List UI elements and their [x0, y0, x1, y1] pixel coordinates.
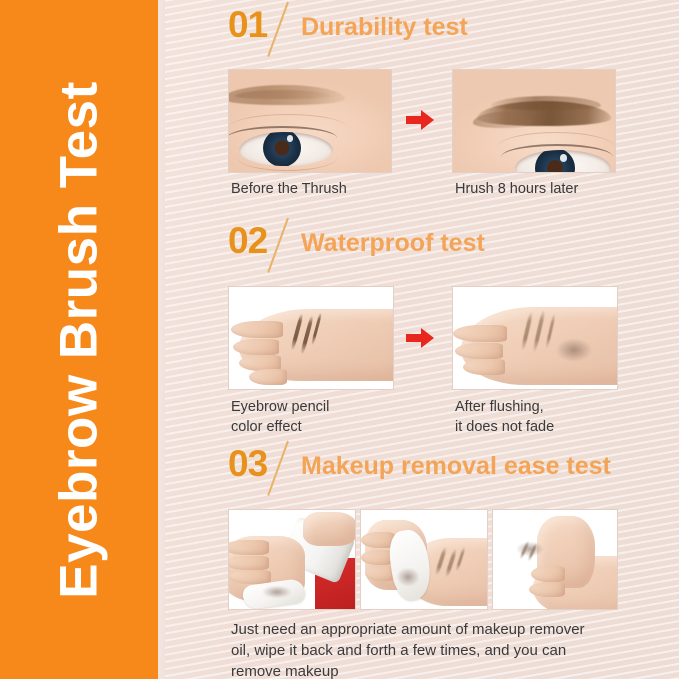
section-durability-test: 01 Durability test [165, 4, 679, 216]
sidebar-divider [158, 0, 165, 679]
section-3-heading: 03 Makeup removal ease test [165, 443, 679, 495]
section-3-number: 03 [228, 445, 267, 482]
slash-divider-icon [267, 218, 289, 273]
wiping-swatches-with-cotton-pad-photo [360, 509, 488, 610]
section-2-title: Waterproof test [301, 231, 485, 256]
section-3-photo-row: Just need an appropriate amount of makeu… [165, 495, 679, 675]
section-2-photo-row: Eyebrow pencil color effect After flushi… [165, 272, 679, 442]
page-title: Eyebrow Brush Test [53, 81, 106, 599]
pouring-makeup-remover-onto-cotton-pad-photo [228, 509, 356, 610]
section-makeup-removal-test: 03 Makeup removal ease test [165, 443, 679, 675]
section-1-number: 01 [228, 6, 267, 43]
slash-divider-icon [267, 441, 289, 496]
section-waterproof-test: 02 Waterproof test [165, 220, 679, 442]
section-1-panel-1-caption: Before the Thrush [231, 180, 347, 200]
section-3-caption: Just need an appropriate amount of makeu… [231, 619, 679, 679]
hand-with-pencil-swatches-photo [228, 286, 394, 390]
section-2-heading: 02 Waterproof test [165, 220, 679, 272]
section-2-panel-1-caption: Eyebrow pencil color effect [231, 398, 329, 437]
section-2-number: 02 [228, 222, 267, 259]
sidebar-orange-band: Eyebrow Brush Test [0, 0, 158, 679]
hand-after-flushing-photo [452, 286, 618, 390]
eye-before-eyebrow-brush-photo [228, 69, 392, 173]
slash-divider-icon [267, 2, 289, 57]
section-1-heading: 01 Durability test [165, 4, 679, 56]
infographic-page: Eyebrow Brush Test 01 Durability test [0, 0, 679, 679]
eye-after-8-hours-photo [452, 69, 616, 173]
content-column: 01 Durability test [165, 0, 679, 679]
arrow-right-icon [406, 327, 436, 349]
makeup-removed-from-hand-photo [492, 509, 618, 610]
section-1-title: Durability test [301, 15, 468, 40]
arrow-right-icon [406, 109, 436, 131]
section-3-title: Makeup removal ease test [301, 454, 611, 479]
section-1-panel-2-caption: Hrush 8 hours later [455, 180, 578, 200]
section-1-photo-row: Before the Thrush Hrush 8 hours later [165, 56, 679, 216]
section-2-panel-2-caption: After flushing, it does not fade [455, 398, 554, 437]
